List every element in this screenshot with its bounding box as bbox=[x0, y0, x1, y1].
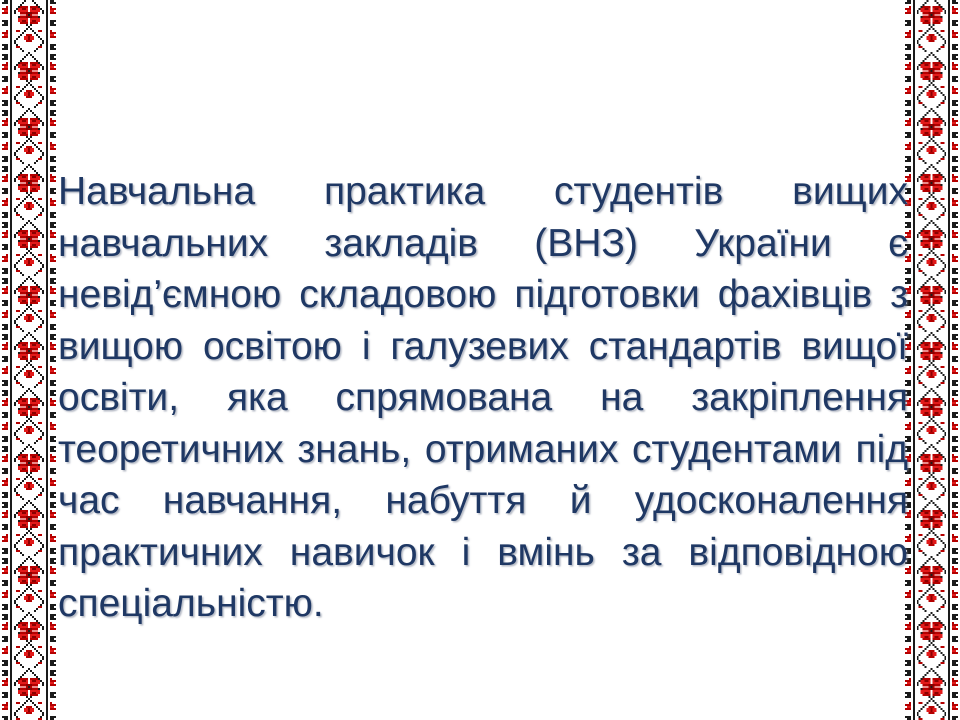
embroidery-pattern-svg-left bbox=[0, 0, 58, 720]
ukrainian-embroidery-border-right-icon bbox=[903, 0, 960, 720]
slide-body-paragraph: Навчальна практика студентів вищих навча… bbox=[58, 166, 908, 681]
ukrainian-embroidery-border-left-icon bbox=[0, 0, 58, 720]
embroidery-pattern-svg-right bbox=[903, 0, 960, 720]
slide-canvas: Навчальна практика студентів вищих навча… bbox=[0, 0, 960, 720]
